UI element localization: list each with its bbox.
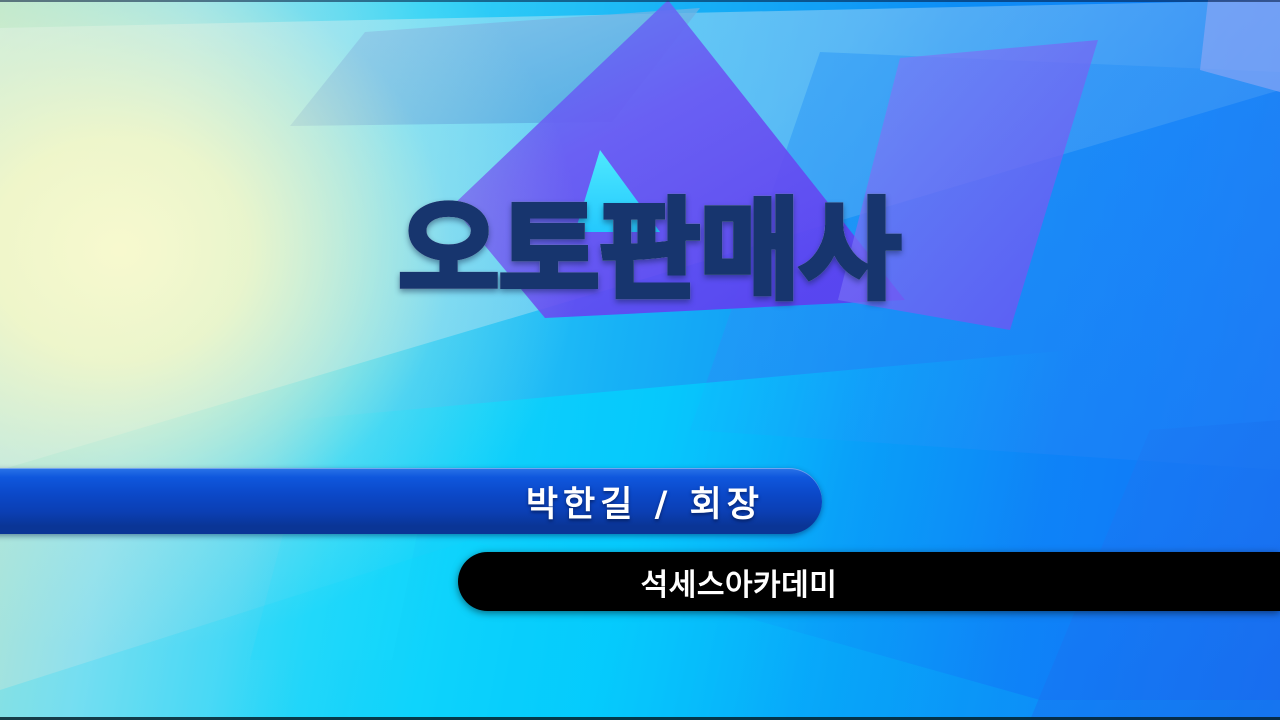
- video-lower-third-slide: 오토판매사 박한길 / 회장 석세스아카데미: [0, 0, 1280, 720]
- speaker-name-bar: 박한길 / 회장: [0, 468, 822, 534]
- organization-bar: 석세스아카데미: [458, 552, 1280, 611]
- speaker-name-label: 박한길 / 회장: [526, 476, 764, 527]
- title-block: 오토판매사: [0, 188, 1280, 315]
- top-edge-seam: [0, 0, 1280, 2]
- background-polygon-shapes: [0, 0, 1280, 720]
- page-title: 오토판매사: [399, 188, 901, 315]
- organization-label: 석세스아카데미: [641, 560, 838, 604]
